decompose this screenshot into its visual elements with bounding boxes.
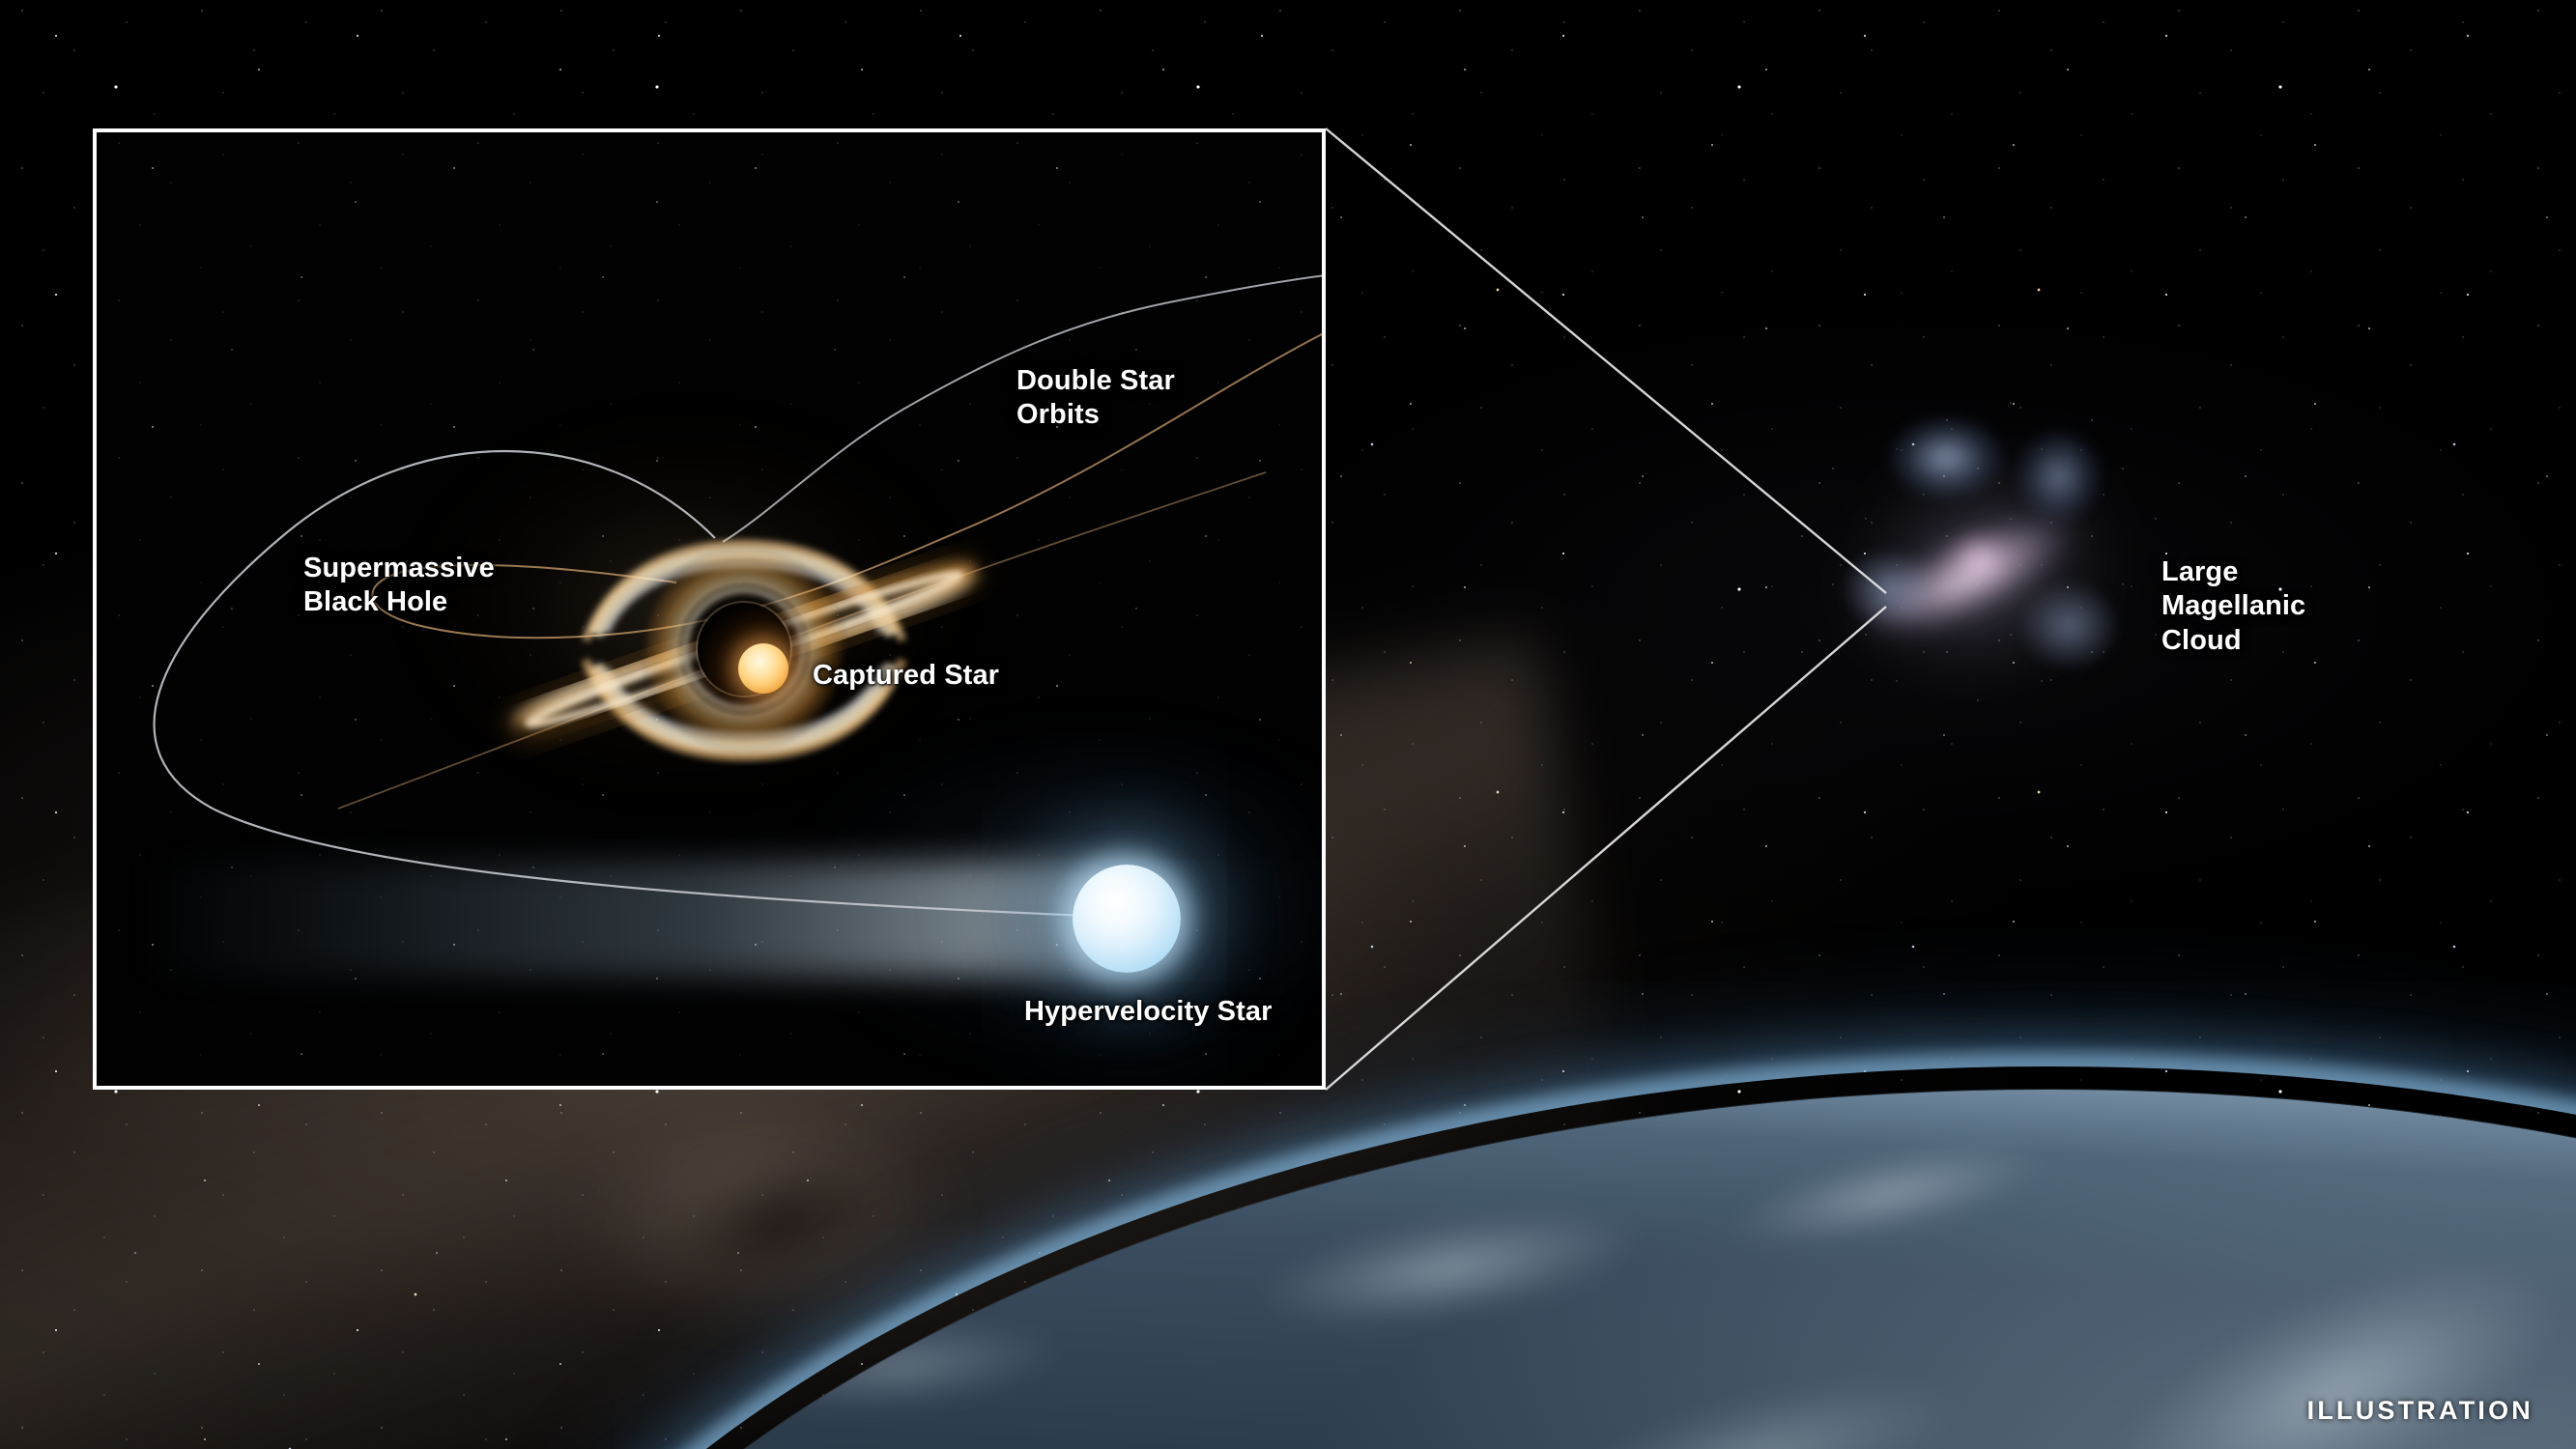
lmc-tarantula-nebula: [1943, 528, 2015, 590]
lmc-star-cluster: [1843, 550, 1935, 627]
inset-frame: Supermassive Black Hole Captured Star Do…: [93, 128, 1326, 1090]
lmc-star-cluster: [1889, 416, 2003, 499]
hypervelocity-star: [1073, 865, 1181, 973]
illustration-canvas: Supermassive Black Hole Captured Star Do…: [0, 0, 2576, 1449]
lmc-star-cluster: [2017, 430, 2102, 523]
label-double-star-orbits: Double Star Orbits: [1016, 364, 1175, 433]
label-supermassive-black-hole: Supermassive Black Hole: [303, 552, 495, 620]
label-large-magellanic-cloud: Large Magellanic Cloud: [2161, 555, 2305, 658]
illustration-credit-label: ILLUSTRATION: [2307, 1396, 2533, 1426]
large-magellanic-cloud: [1773, 382, 2179, 739]
captured-star: [738, 643, 788, 694]
label-hypervelocity-star: Hypervelocity Star: [1024, 995, 1272, 1029]
label-captured-star: Captured Star: [813, 659, 999, 693]
lmc-star-cluster: [2020, 582, 2119, 669]
